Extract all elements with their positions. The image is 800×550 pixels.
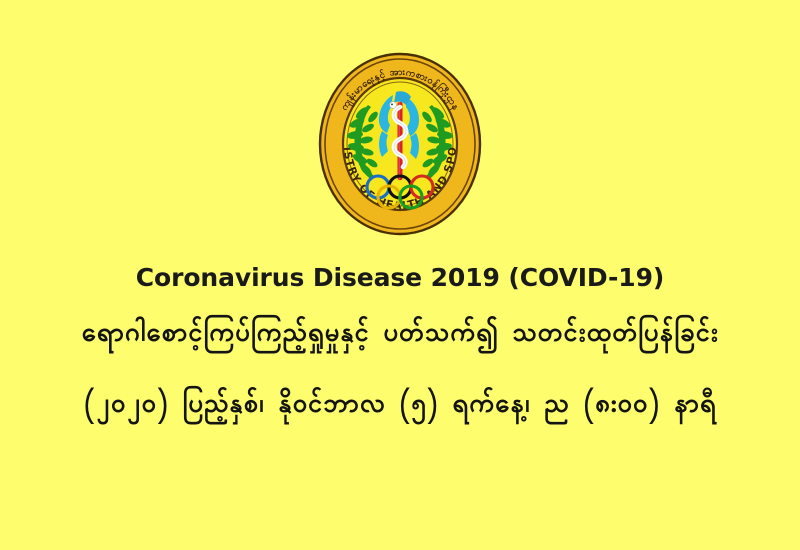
- announcement-datetime-burmese: (၂၀၂၀) ပြည့်နှစ်၊ နိုဝင်ဘာလ (၅) ရက်နေ့၊ …: [0, 386, 800, 427]
- announcement-text-block: Coronavirus Disease 2019 (COVID-19) ရောဂ…: [0, 262, 800, 426]
- announcement-card: ကျန်းမာရေးနှင့် အားကစားဝန်ကြီးဌာန MINIST…: [0, 0, 800, 550]
- ministry-seal-emblem: ကျန်းမာရေးနှင့် အားကစားဝန်ကြီးဌာန MINIST…: [316, 47, 484, 237]
- page-title-english: Coronavirus Disease 2019 (COVID-19): [0, 262, 800, 293]
- announcement-subject-burmese: ရောဂါစောင့်ကြပ်ကြည့်ရှုမှုနှင့် ပတ်သက်၍ …: [0, 315, 800, 356]
- ministry-seal-icon: ကျန်းမာရေးနှင့် အားကစားဝန်ကြီးဌာန MINIST…: [316, 47, 484, 237]
